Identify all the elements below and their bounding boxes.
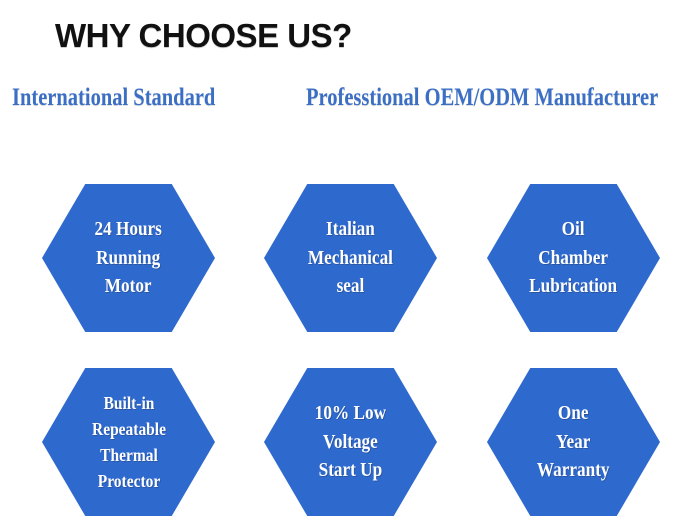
feature-label: Built-in Repeatable Thermal Protector (88, 390, 169, 494)
feature-hexagon-one-year-warranty: One Year Warranty (487, 368, 660, 516)
why-choose-us-slide: WHY CHOOSE US? International Standard Pr… (0, 0, 700, 528)
feature-hexagon-built-in-thermal-protector: Built-in Repeatable Thermal Protector (42, 368, 215, 516)
feature-label: Oil Chamber Lubrication (526, 215, 621, 300)
feature-label: 10% Low Voltage Start Up (311, 399, 389, 484)
feature-label: One Year Warranty (534, 399, 613, 484)
feature-hexagon-low-voltage-start-up: 10% Low Voltage Start Up (264, 368, 437, 516)
feature-hexagon-oil-chamber-lubrication: Oil Chamber Lubrication (487, 184, 660, 332)
feature-label: Italian Mechanical seal (305, 215, 397, 300)
feature-hexagon-grid: 24 Hours Running Motor Italian Mechanica… (0, 0, 700, 528)
feature-hexagon-italian-mechanical-seal: Italian Mechanical seal (264, 184, 437, 332)
feature-label: 24 Hours Running Motor (91, 215, 165, 300)
feature-hexagon-24-hours-running-motor: 24 Hours Running Motor (42, 184, 215, 332)
